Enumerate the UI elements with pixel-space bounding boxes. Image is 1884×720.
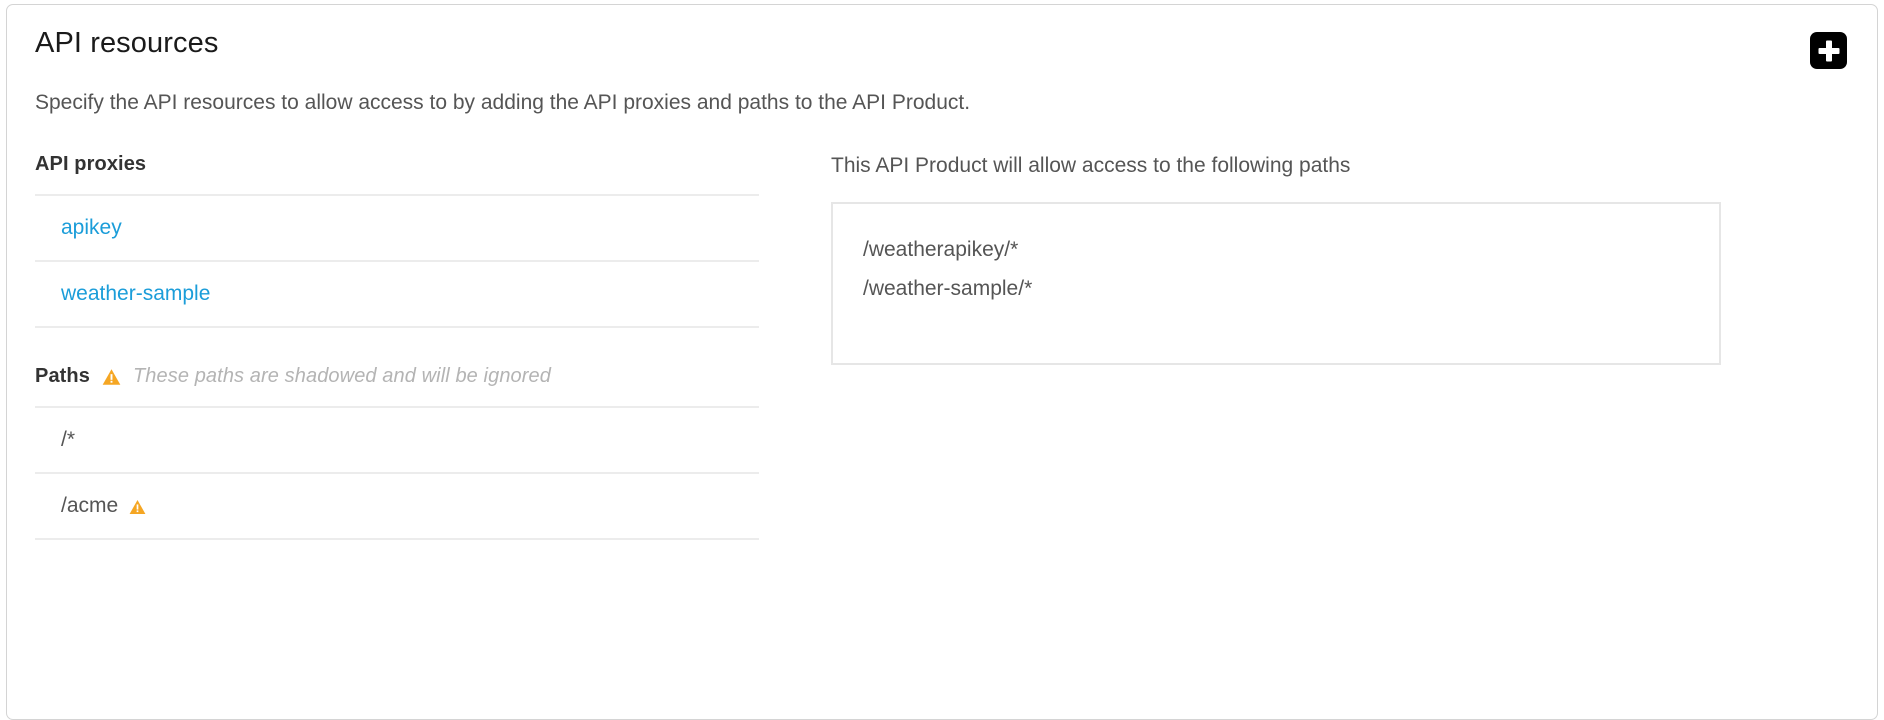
card-inner: API resources Specify the API resources …: [7, 5, 1877, 719]
api-resources-card: API resources Specify the API resources …: [6, 4, 1878, 720]
add-resource-button[interactable]: [1810, 32, 1847, 69]
list-item[interactable]: apikey: [35, 196, 759, 262]
left-column: API proxies apikey weather-sample Paths: [35, 150, 759, 540]
list-item[interactable]: weather-sample: [35, 262, 759, 328]
api-proxy-link[interactable]: apikey: [61, 216, 122, 240]
api-proxies-list: apikey weather-sample: [35, 194, 759, 328]
allowed-paths-heading: This API Product will allow access to th…: [831, 152, 1849, 179]
warning-triangle-icon: [129, 499, 146, 515]
card-description: Specify the API resources to allow acces…: [35, 89, 1849, 116]
path-value: /acme: [61, 494, 118, 518]
api-proxies-header: API proxies: [35, 150, 759, 178]
list-item[interactable]: /*: [35, 408, 759, 474]
api-proxies-label: API proxies: [35, 153, 146, 176]
warning-triangle-icon: [102, 368, 121, 386]
body-columns: API proxies apikey weather-sample Paths: [35, 150, 1849, 540]
page-title: API resources: [35, 27, 218, 60]
path-value: /*: [61, 428, 75, 452]
allowed-path: /weather-sample/*: [863, 269, 1719, 308]
list-item[interactable]: /acme: [35, 474, 759, 540]
paths-header: Paths These paths are shadowed and will …: [35, 362, 759, 390]
allowed-path: /weatherapikey/*: [863, 230, 1719, 269]
plus-icon-vertical: [1826, 40, 1832, 61]
paths-list: /* /acme: [35, 406, 759, 540]
paths-shadow-warning-text: These paths are shadowed and will be ign…: [133, 365, 551, 388]
paths-label: Paths: [35, 365, 90, 388]
right-column: This API Product will allow access to th…: [759, 150, 1849, 364]
api-proxy-link[interactable]: weather-sample: [61, 282, 210, 306]
allowed-paths-box: /weatherapikey/* /weather-sample/*: [831, 202, 1721, 365]
card-header: API resources: [35, 5, 1849, 69]
